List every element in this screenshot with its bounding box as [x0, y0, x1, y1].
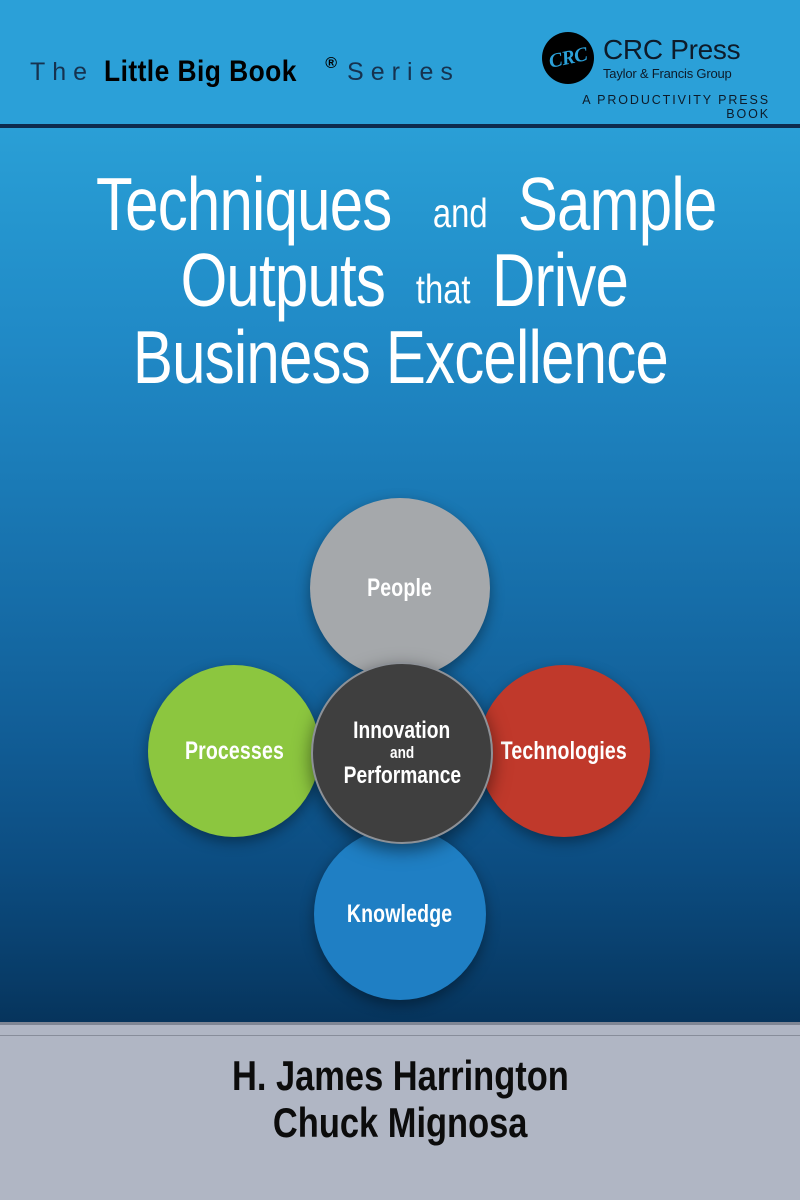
center-label-innovation: Innovation [353, 718, 450, 743]
publisher-name: CRC Press [603, 36, 740, 64]
publisher-imprint: Taylor & Francis Group [603, 67, 740, 80]
diagram-node-technologies: Technologies [478, 665, 650, 837]
crc-wordmark: CRC Press Taylor & Francis Group [603, 36, 740, 80]
author-band-hairline [0, 1035, 800, 1036]
title-line-1: TechniquesandSample [0, 168, 800, 242]
author-list: H. James Harrington Chuck Mignosa [0, 1052, 800, 1146]
book-title: TechniquesandSample OutputsthatDrive Bus… [0, 168, 800, 397]
title-word-drive: Drive [492, 244, 628, 318]
diagram-node-technologies-label: Technologies [501, 737, 627, 766]
innovation-performance-diagram: People Processes Technologies Knowledge … [120, 468, 680, 968]
crc-logo-row: CRC CRC Press Taylor & Francis Group [542, 30, 772, 86]
author-name-secondary-text: Chuck Mignosa [273, 1099, 528, 1146]
diagram-node-knowledge: Knowledge [314, 828, 486, 1000]
diagram-node-people-label: People [368, 574, 433, 603]
diagram-node-people: People [310, 498, 490, 678]
diagram-node-knowledge-label: Knowledge [347, 900, 452, 929]
author-name-primary-text: H. James Harrington [232, 1052, 569, 1099]
title-line-3: Business Excellence [0, 321, 800, 395]
diagram-node-processes: Processes [148, 665, 320, 837]
crc-press-logo: CRC CRC Press Taylor & Francis Group A P… [542, 30, 772, 112]
diagram-node-center: Innovation and Performance [311, 662, 493, 844]
author-name-secondary: Chuck Mignosa [0, 1099, 800, 1146]
registered-trademark-icon: ® [325, 55, 337, 73]
title-word-outputs: Outputs [181, 244, 386, 318]
diagram-node-processes-label: Processes [185, 737, 284, 766]
series-branding: The Little Big Book ® Series [30, 52, 460, 92]
series-title-label: Little Big Book [104, 55, 297, 89]
crc-disc-icon: CRC [542, 32, 594, 84]
author-name-primary: H. James Harrington [0, 1052, 800, 1099]
title-word-and: and [433, 193, 488, 233]
title-word-sample: Sample [518, 168, 717, 242]
cover-main-area: TechniquesandSample OutputsthatDrive Bus… [0, 128, 800, 1022]
title-word-techniques: Techniques [96, 168, 392, 242]
publisher-tagline: A PRODUCTIVITY PRESS BOOK [542, 93, 772, 121]
series-prefix-label: The [30, 58, 94, 87]
title-word-that: that [415, 269, 470, 309]
crc-disc-label: CRC [542, 32, 594, 84]
center-label-performance: Performance [343, 763, 460, 788]
center-label-and: and [390, 744, 414, 762]
title-line-2: OutputsthatDrive [0, 244, 800, 318]
title-phrase-business-excellence: Business Excellence [132, 321, 667, 395]
book-cover: The Little Big Book ® Series CRC CRC Pre… [0, 0, 800, 1200]
series-suffix-label: Series [347, 58, 460, 87]
